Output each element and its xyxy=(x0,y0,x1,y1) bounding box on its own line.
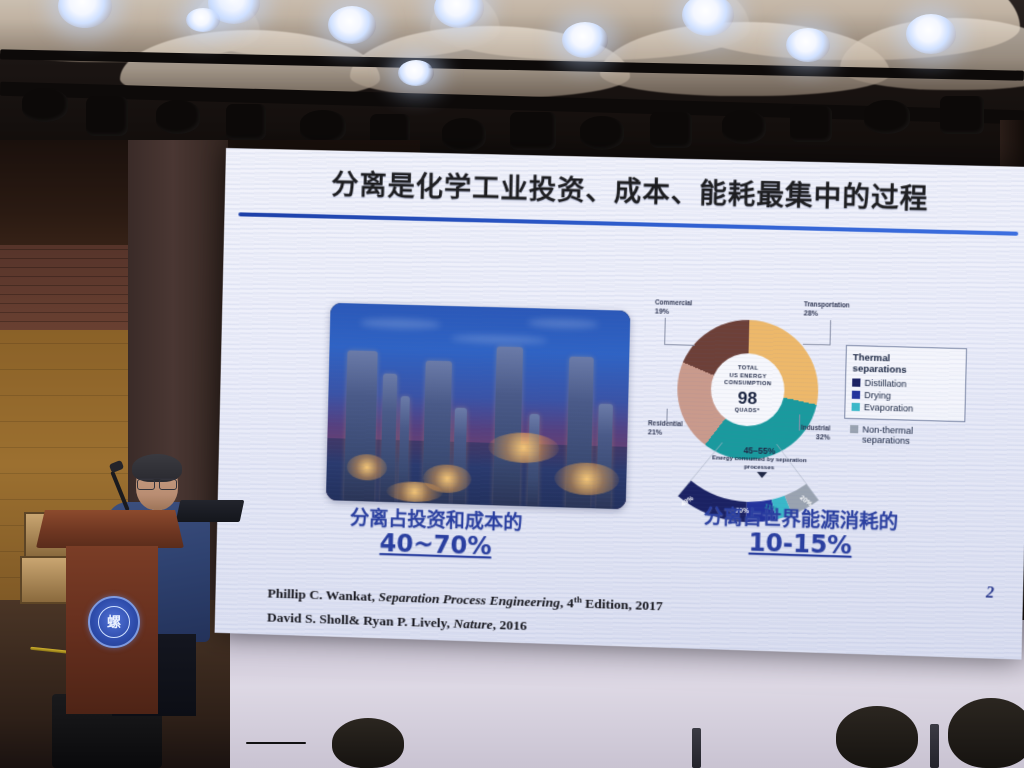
chemical-plant-photo xyxy=(326,303,630,509)
auditorium-scene: 分离是化学工业投资、成本、能耗最集中的过程 xyxy=(0,0,1024,768)
spotlight-fixture xyxy=(510,112,556,150)
spotlight-fixture xyxy=(722,110,766,144)
donut-center-unit: QUADS* xyxy=(735,407,760,414)
donut-label-commercial: Commercial 19% xyxy=(655,299,693,318)
legend-label-nonthermal-line2: separations xyxy=(862,434,910,446)
caption-investment-cost: 分离占投资和成本的 40~70% xyxy=(305,507,568,563)
water-bottle xyxy=(930,724,939,768)
presenter-laptop xyxy=(176,500,245,522)
audience-rail xyxy=(246,742,306,744)
stage-light xyxy=(786,28,830,62)
slide-page-number: 2 xyxy=(986,584,995,603)
audience-head xyxy=(836,706,918,768)
donut-label-residential-pct: 21% xyxy=(648,429,683,439)
legend-swatch-drying xyxy=(852,390,860,398)
university-emblem: 螺 xyxy=(88,596,140,648)
stage-light xyxy=(906,14,956,54)
spotlight-fixture xyxy=(650,112,692,148)
donut-center-label: TOTAL US ENERGY CONSUMPTION 98 QUADS* xyxy=(710,352,785,427)
legend-label-nonthermal: Non-thermal separations xyxy=(862,424,913,446)
spotlight-fixture xyxy=(580,116,624,150)
slide-title: 分离是化学工业投资、成本、能耗最集中的过程 xyxy=(255,161,1007,218)
projection-screen: 分离是化学工业投资、成本、能耗最集中的过程 xyxy=(215,148,1024,660)
water-bottle xyxy=(692,728,701,768)
donut-chart: TOTAL US ENERGY CONSUMPTION 98 QUADS* xyxy=(676,318,820,461)
caption-energy-consumption: 分离占世界能源消耗的 10-15% xyxy=(672,506,929,563)
legend-title-line2: separations xyxy=(852,363,959,377)
reference-1-work: Separation Process Engineering xyxy=(378,589,560,610)
reference-1-author: Phillip C. Wankat, xyxy=(267,585,375,604)
reference-1-edition-suffix: th xyxy=(574,594,582,604)
title-divider-rule xyxy=(238,212,1018,235)
legend-label-evaporation: Evaporation xyxy=(864,402,914,414)
leader-line xyxy=(664,344,695,346)
donut-label-transportation-name: Transportation xyxy=(804,301,850,309)
donut-label-industrial-pct: 32% xyxy=(801,433,831,443)
donut-label-commercial-name: Commercial xyxy=(655,299,692,307)
spotlight-fixture xyxy=(940,96,984,134)
reference-2-work: Nature xyxy=(453,615,493,631)
leader-line xyxy=(830,320,832,344)
energy-consumption-figure: TOTAL US ENERGY CONSUMPTION 98 QUADS* Co… xyxy=(646,299,989,531)
legend-item-evaporation: Evaporation xyxy=(852,401,959,414)
reference-2-author: David S. Sholl& Ryan P. Lively, xyxy=(267,609,450,630)
legend-label-distillation: Distillation xyxy=(864,377,906,388)
stage-light xyxy=(328,6,376,44)
donut-label-residential: Residential 21% xyxy=(648,420,683,439)
legend-label-drying: Drying xyxy=(864,390,891,401)
chart-legend: Thermal separations Distillation Drying … xyxy=(844,345,968,448)
audience-head xyxy=(948,698,1024,768)
spotlight-fixture xyxy=(226,104,266,140)
spotlight-fixture xyxy=(22,88,68,122)
spotlight-fixture xyxy=(442,118,486,152)
university-emblem-inner: 螺 xyxy=(98,606,130,638)
leader-line xyxy=(664,318,666,344)
legend-swatch-nonthermal xyxy=(850,425,858,433)
donut-label-transportation: Transportation 28% xyxy=(804,301,850,320)
podium: 螺 xyxy=(36,510,184,710)
donut-label-commercial-pct: 19% xyxy=(655,308,692,318)
donut-label-industrial-name: Industrial xyxy=(801,425,831,433)
stage-light xyxy=(562,22,608,58)
distillation-column xyxy=(493,346,523,506)
legend-item-drying: Drying xyxy=(852,389,959,402)
legend-item-distillation: Distillation xyxy=(852,377,959,390)
donut-label-transportation-pct: 28% xyxy=(804,310,850,320)
podium-top-surface xyxy=(36,510,184,548)
reference-2-rest: , 2016 xyxy=(493,616,527,632)
legend-swatch-distillation xyxy=(852,378,860,386)
stage-light xyxy=(186,8,220,32)
spotlight-fixture xyxy=(790,106,832,142)
leader-line xyxy=(803,344,831,346)
legend-thermal-box: Thermal separations Distillation Drying … xyxy=(844,345,967,422)
spotlight-fixture xyxy=(864,100,910,134)
legend-item-nonthermal: Non-thermal separations xyxy=(844,423,966,447)
reference-1-rest: Edition, 2017 xyxy=(582,596,663,614)
glasses-icon xyxy=(137,478,177,487)
donut-center-value: 98 xyxy=(738,389,758,407)
spotlight-fixture xyxy=(86,96,128,136)
donut-label-industrial: Industrial 32% xyxy=(801,425,831,443)
spotlight-fixture xyxy=(300,110,346,144)
donut-label-residential-name: Residential xyxy=(648,420,683,428)
audience-head xyxy=(332,718,404,768)
spotlight-fixture xyxy=(156,100,200,134)
donut-center-line3: CONSUMPTION xyxy=(724,380,771,389)
legend-swatch-evaporation xyxy=(852,402,860,410)
stage-light xyxy=(398,60,434,86)
